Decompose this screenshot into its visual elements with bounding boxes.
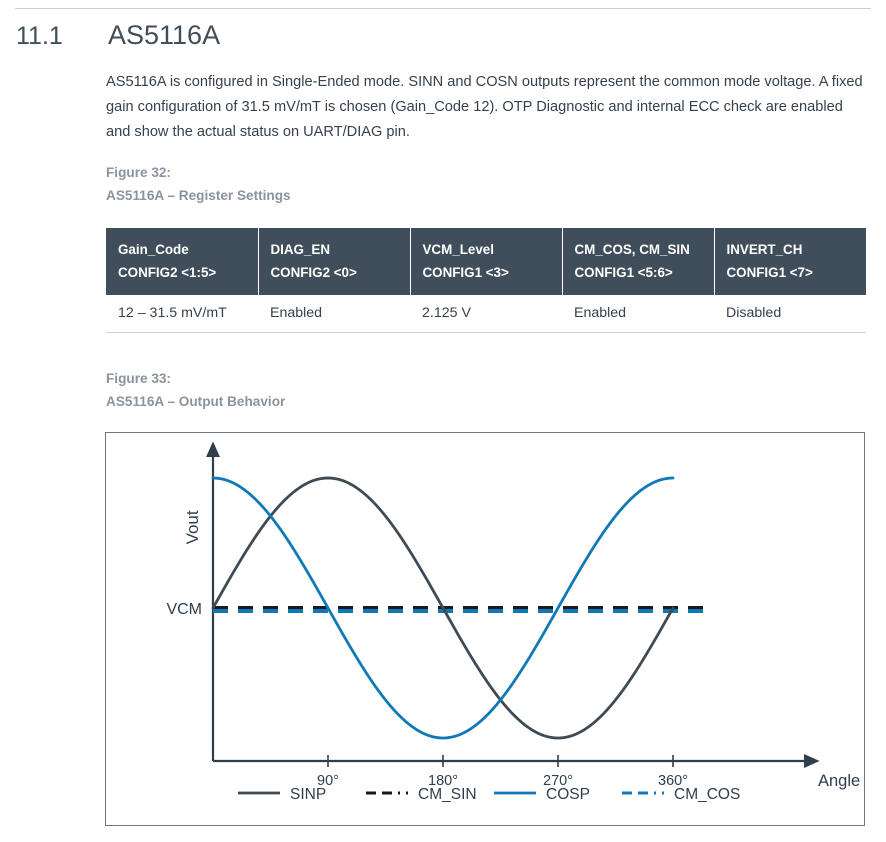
figure-32-caption: Figure 32: AS5116A – Register Settings [106, 161, 291, 207]
register-settings-table: Gain_Code CONFIG2 <1:5> DIAG_EN CONFIG2 … [106, 228, 866, 333]
table-header-cell: DIAG_EN CONFIG2 <0> [258, 228, 410, 295]
output-behavior-chart: Vout90°180°270°360°Angle PositionVCMSINP… [105, 432, 865, 826]
body-paragraph: AS5116A is configured in Single-Ended mo… [106, 70, 866, 145]
table-header-register: CONFIG1 <3> [423, 261, 550, 284]
page-top-rule [15, 8, 871, 9]
table-header-cell: INVERT_CH CONFIG1 <7> [714, 228, 866, 295]
table-cell: 2.125 V [410, 295, 562, 333]
table-header-register: CONFIG2 <0> [271, 261, 398, 284]
table-cell: Enabled [562, 295, 714, 333]
table-header-cell: VCM_Level CONFIG1 <3> [410, 228, 562, 295]
figure-32-title: AS5116A – Register Settings [106, 184, 291, 207]
sinp-curve [213, 478, 673, 738]
table-header-name: DIAG_EN [271, 238, 398, 261]
table-header-cell: CM_COS, CM_SIN CONFIG1 <5:6> [562, 228, 714, 295]
table-row: 12 – 31.5 mV/mT Enabled 2.125 V Enabled … [106, 295, 866, 333]
page-title: AS5116A [108, 20, 220, 51]
table-cell: 12 – 31.5 mV/mT [106, 295, 258, 333]
legend-label: CM_SIN [418, 786, 477, 803]
table-cell: Disabled [714, 295, 866, 333]
legend-label: SINP [290, 786, 326, 803]
figure-33-title: AS5116A – Output Behavior [106, 390, 285, 413]
legend-label: CM_COS [674, 786, 740, 803]
figure-33-label: Figure 33: [106, 367, 285, 390]
section-number: 11.1 [16, 22, 63, 51]
table-cell: Enabled [258, 295, 410, 333]
table-header-name: CM_COS, CM_SIN [575, 238, 702, 261]
table-header-register: CONFIG1 <5:6> [575, 261, 702, 284]
figure-32-label: Figure 32: [106, 161, 291, 184]
legend-label: COSP [546, 786, 590, 803]
table-header-name: VCM_Level [423, 238, 550, 261]
legend-item: SINP [238, 786, 326, 803]
table-header-row: Gain_Code CONFIG2 <1:5> DIAG_EN CONFIG2 … [106, 228, 866, 295]
legend-item: COSP [494, 786, 590, 803]
legend-item: CM_SIN [366, 786, 477, 803]
y-axis-label: Vout [183, 510, 202, 544]
chart-canvas: Vout90°180°270°360°Angle PositionVCMSINP… [106, 433, 863, 824]
table-header-name: INVERT_CH [727, 238, 855, 261]
legend-item: CM_COS [622, 786, 740, 803]
table-header-register: CONFIG1 <7> [727, 261, 855, 284]
vcm-label: VCM [166, 601, 202, 618]
figure-33-caption: Figure 33: AS5116A – Output Behavior [106, 367, 285, 413]
table-header-register: CONFIG2 <1:5> [118, 261, 246, 284]
table-header-cell: Gain_Code CONFIG2 <1:5> [106, 228, 258, 295]
page-heading: 11.1 AS5116A [16, 20, 870, 60]
table-header-name: Gain_Code [118, 238, 246, 261]
x-axis-label: Angle Position [818, 772, 863, 790]
